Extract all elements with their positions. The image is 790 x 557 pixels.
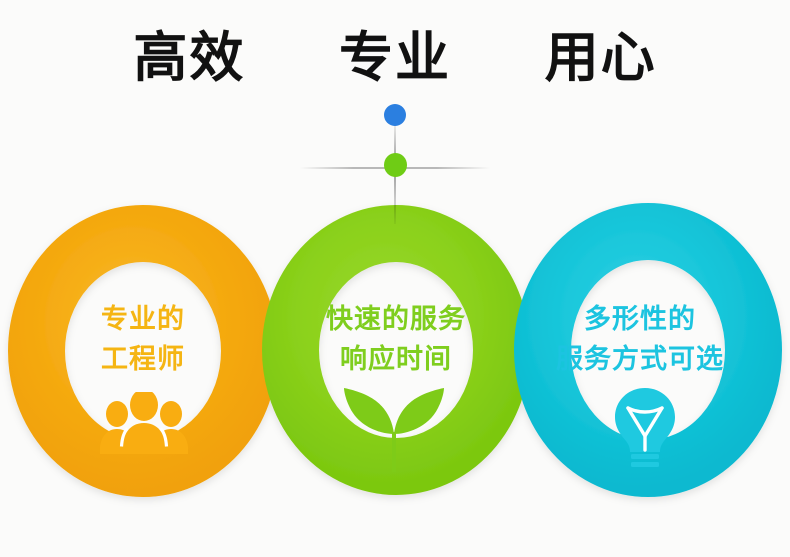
infographic-canvas: 高效 专业 用心 — [0, 0, 790, 557]
green-line-2: 响应时间 — [296, 340, 496, 380]
panel-fast-service-response: 快速的服务 响应时间 — [296, 300, 496, 380]
green-line-1: 快速的服务 — [296, 300, 496, 340]
lightbulb-icon — [608, 386, 682, 470]
people-group-icon — [100, 392, 188, 454]
orange-line-1: 专业的 — [48, 300, 238, 340]
orange-line-2: 工程师 — [48, 340, 238, 380]
cyan-line-2: 服务方式可选 — [530, 340, 750, 380]
cyan-line-1: 多形性的 — [530, 300, 750, 340]
sprout-leaf-icon — [338, 382, 450, 474]
panel-flexible-service-modes: 多形性的 服务方式可选 — [530, 300, 750, 380]
panel-professional-engineers: 专业的 工程师 — [48, 300, 238, 380]
